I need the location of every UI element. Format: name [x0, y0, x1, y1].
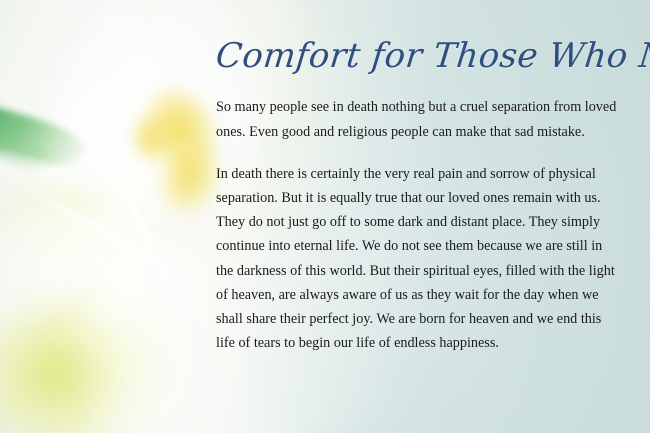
paragraph-2: In death there is certainly the very rea… — [216, 162, 620, 356]
petal-edge-highlight-3 — [25, 186, 194, 282]
green-leaf-secondary — [0, 121, 58, 177]
pollen-glow-mid-left — [0, 177, 126, 283]
card-content: Comfort for Those Who Mourn So many peop… — [216, 36, 620, 356]
memorial-card: Comfort for Those Who Mourn So many peop… — [0, 0, 650, 433]
green-leaf-stem — [0, 103, 91, 172]
paragraph-1: So many people see in death nothing but … — [216, 95, 620, 143]
yellow-anther-left — [129, 109, 176, 166]
petal-edge-highlight-1 — [82, 0, 117, 169]
petal-edge-highlight-2 — [120, 180, 186, 319]
pollen-glow-bottom-left — [0, 271, 202, 433]
petal-shadow-upper-left — [0, 0, 231, 228]
card-title: Comfort for Those Who Mourn — [214, 36, 622, 77]
card-body: So many people see in death nothing but … — [216, 95, 620, 355]
